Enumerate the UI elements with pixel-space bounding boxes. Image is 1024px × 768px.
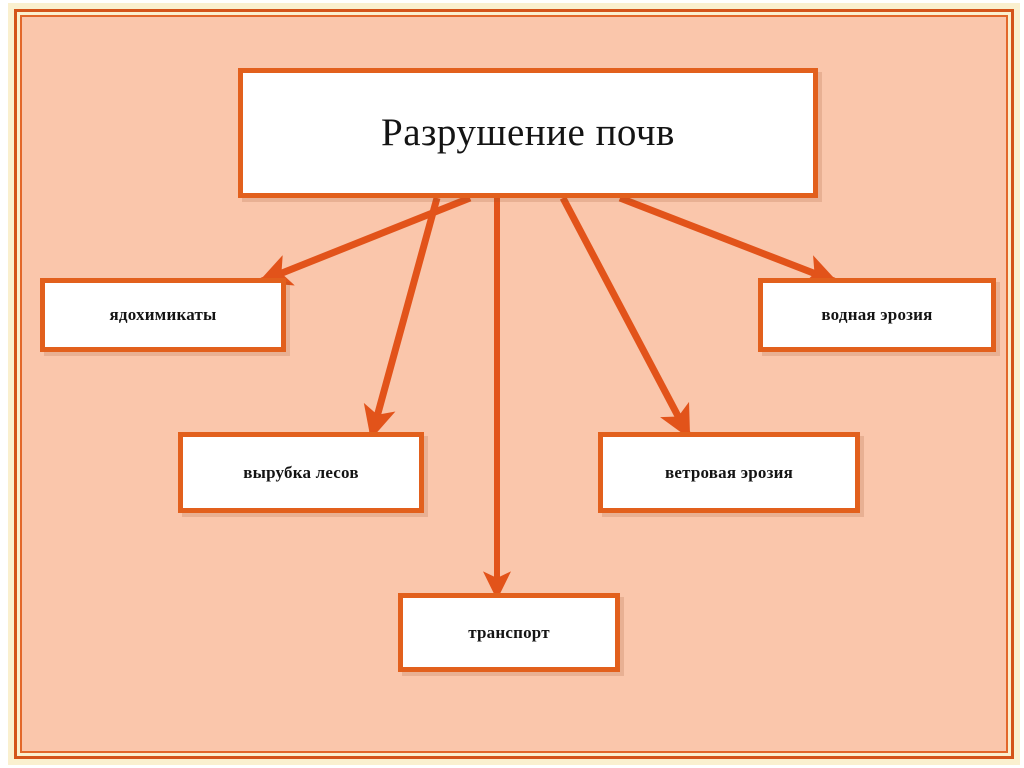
node-transport[interactable]: транспорт [398,593,620,672]
node-deforestation-label: вырубка лесов [243,463,358,483]
edge-root-water-erosion [620,198,834,281]
node-pesticides[interactable]: ядохимикаты [40,278,286,352]
node-pesticides-label: ядохимикаты [110,305,217,325]
edge-root-wind-erosion [563,198,688,435]
edge-root-deforestation [372,198,437,435]
node-deforestation[interactable]: вырубка лесов [178,432,424,513]
node-root-razrushenie-pochv[interactable]: Разрушение почв [238,68,818,198]
node-wind-erosion[interactable]: ветровая эрозия [598,432,860,513]
node-wind-erosion-label: ветровая эрозия [665,463,793,483]
node-water-erosion-label: водная эрозия [821,305,932,325]
node-transport-label: транспорт [468,623,550,643]
slide: Разрушение почв ядохимикаты вырубка лесо… [0,0,1024,768]
node-root-label: Разрушение почв [381,111,675,156]
edge-root-pesticides [262,198,470,281]
diagram-canvas: Разрушение почв ядохимикаты вырубка лесо… [0,0,1024,768]
node-water-erosion[interactable]: водная эрозия [758,278,996,352]
